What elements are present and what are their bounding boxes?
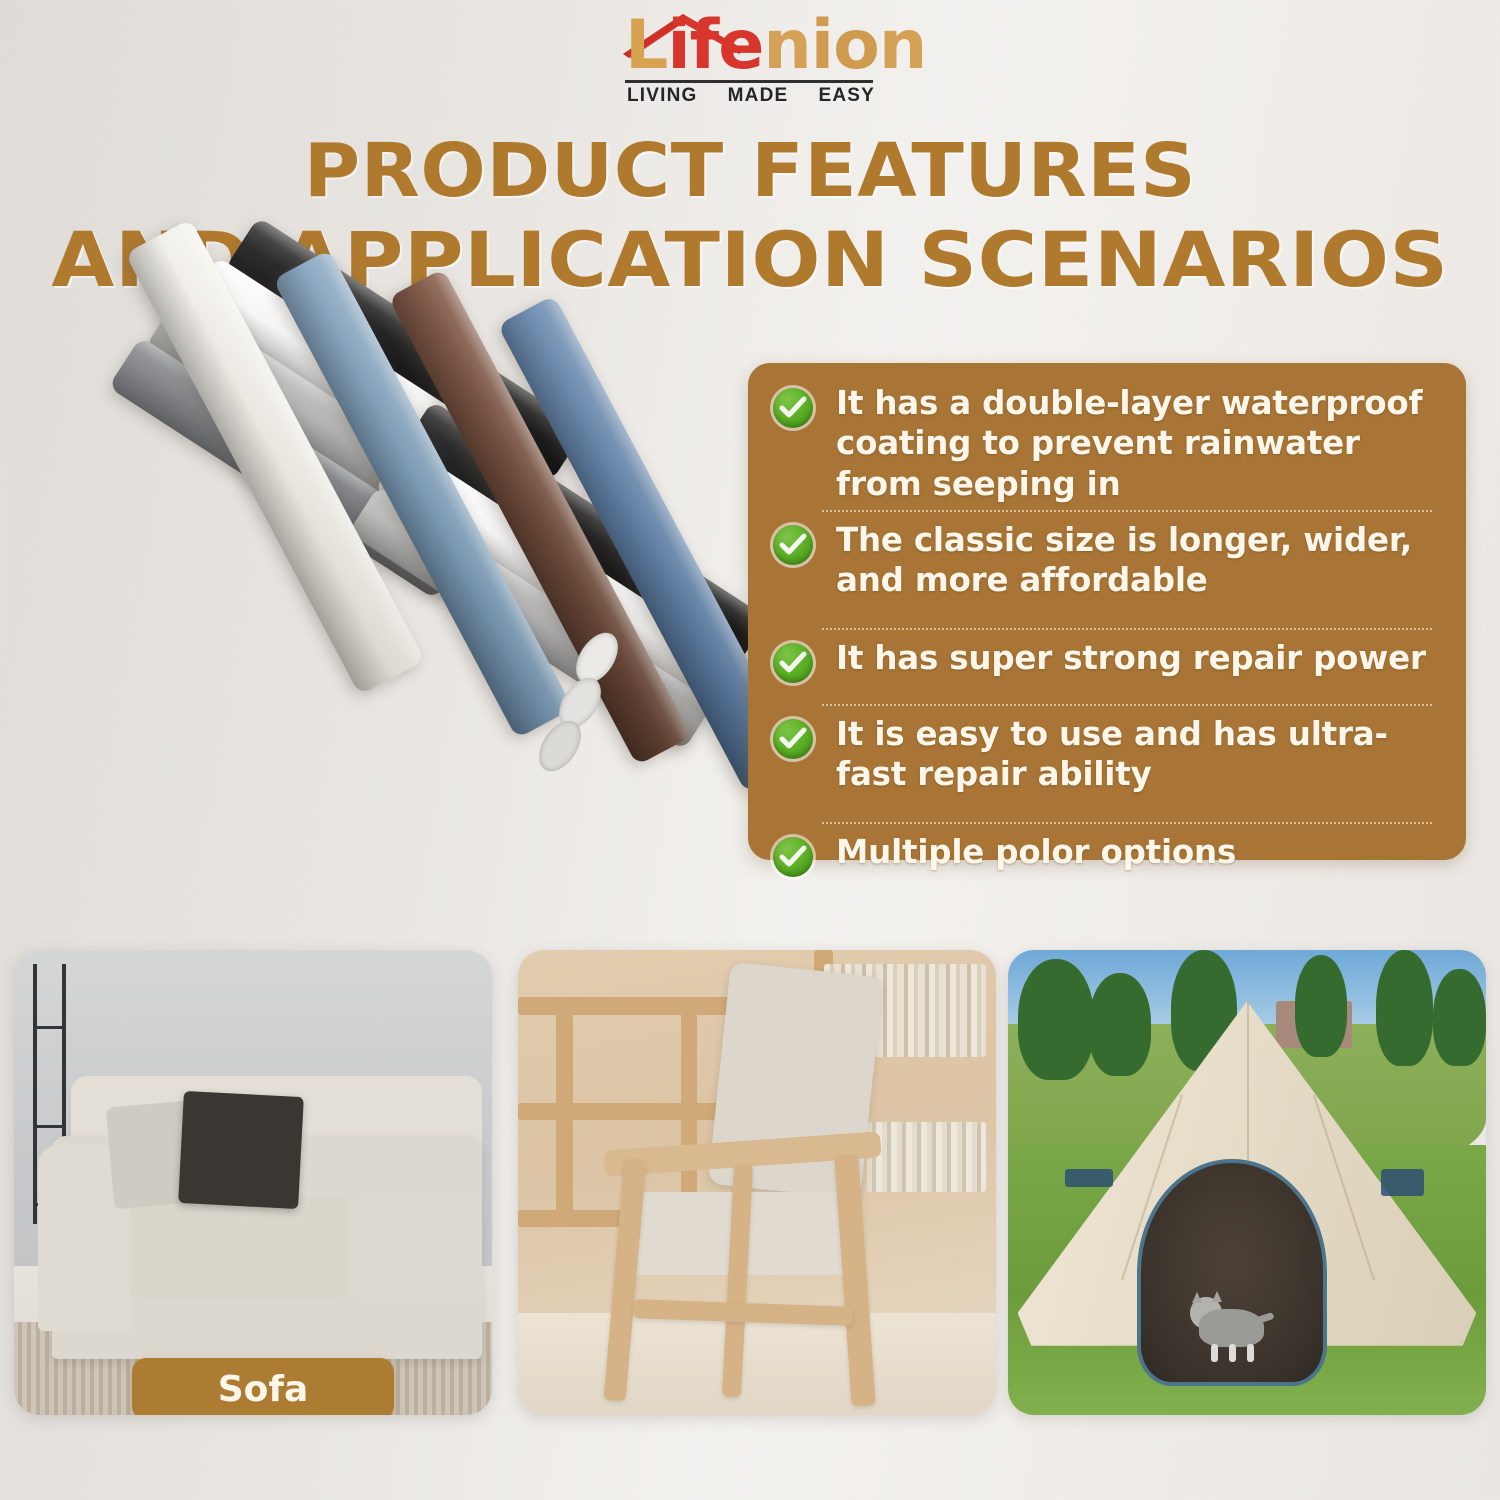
page-title-line-1: PRODUCT FEATURES <box>0 128 1500 215</box>
brand-letters-io: io <box>811 6 879 85</box>
feature-item: It has super strong repair power <box>770 630 1440 704</box>
brand-wordmark: Lifenion <box>625 12 926 80</box>
tagline-word-easy: EASY <box>818 85 875 107</box>
check-circle-icon <box>770 522 816 568</box>
brand-letter-l: L <box>625 6 667 85</box>
dark-pillow <box>178 1091 303 1209</box>
brand-letter-n: n <box>763 6 810 85</box>
feature-item: Multiple polor options <box>770 824 1440 898</box>
tagline-word-living: LIVING <box>627 85 698 107</box>
logo-divider <box>625 80 873 83</box>
brand-letters-ife: ife <box>667 6 763 85</box>
feature-item: The classic size is longer, wider, and m… <box>770 512 1440 628</box>
tagline-word-made: MADE <box>728 85 789 107</box>
check-circle-icon <box>770 385 816 431</box>
scene-card-tent: Tent <box>1008 950 1486 1415</box>
product-rolls-image <box>35 300 735 960</box>
feature-text: It has a double-layer waterproof coating… <box>836 381 1440 504</box>
scene-label-sofa: Sofa <box>132 1358 394 1415</box>
feature-text: The classic size is longer, wider, and m… <box>836 518 1440 601</box>
tent-photo <box>1008 950 1486 1415</box>
feature-text: It is easy to use and has ultra-fast rep… <box>836 712 1440 795</box>
scene-card-sofa: Sofa <box>14 950 492 1415</box>
tent-brand-badge-left <box>1065 1169 1113 1188</box>
scene-card-chair: Chair <box>518 950 996 1415</box>
feature-item: It has a double-layer waterproof coating… <box>770 375 1440 510</box>
feature-item: It is easy to use and has ultra-fast rep… <box>770 706 1440 822</box>
check-circle-icon <box>770 640 816 686</box>
brand-letter-n2: n <box>879 6 926 85</box>
check-circle-icon <box>770 716 816 762</box>
features-panel: It has a double-layer waterproof coating… <box>748 363 1466 860</box>
sofa-photo <box>14 950 492 1415</box>
brand-tagline: LIVING MADE EASY <box>627 85 875 107</box>
chair-photo <box>518 950 996 1415</box>
feature-text: It has super strong repair power <box>836 636 1426 678</box>
check-circle-icon <box>770 834 816 880</box>
features-list: It has a double-layer waterproof coating… <box>748 363 1466 860</box>
brand-logo: Lifenion LIVING MADE EASY <box>0 6 1500 114</box>
feature-text: Multiple polor options <box>836 830 1236 872</box>
tent-brand-badge-right <box>1381 1169 1424 1197</box>
application-scenes: Sofa Chair <box>0 950 1500 1500</box>
bookshelf-books-lower <box>867 1122 987 1192</box>
cat <box>1190 1285 1271 1359</box>
